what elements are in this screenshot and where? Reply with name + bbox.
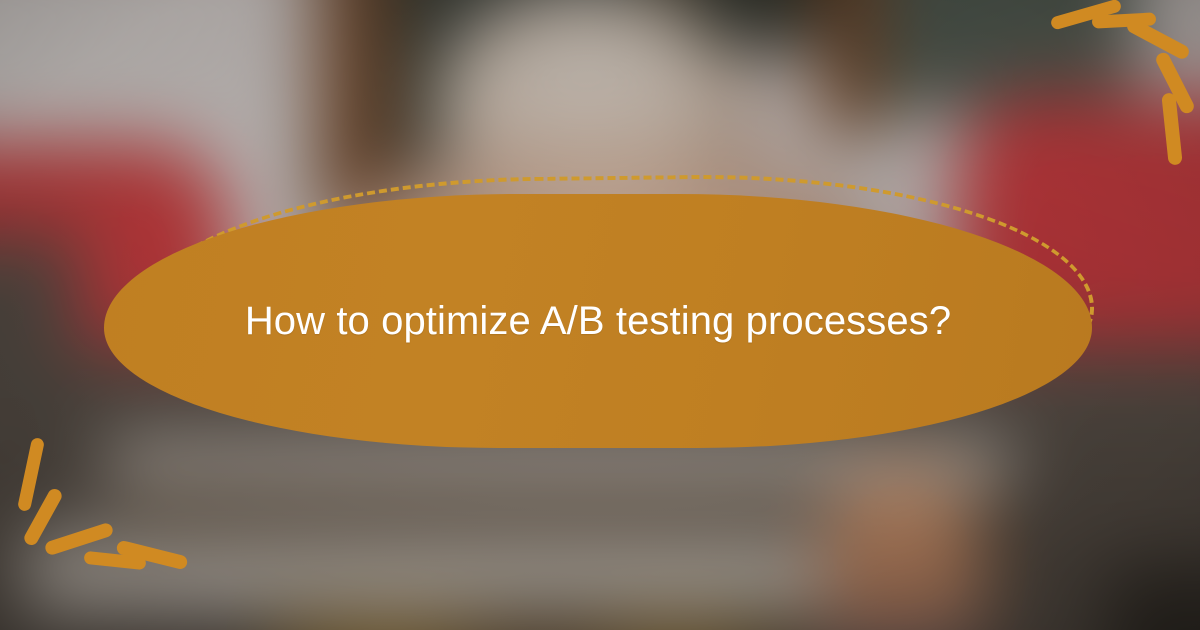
bg-boxes xyxy=(271,611,793,630)
starburst-top-right xyxy=(1030,0,1200,170)
question-card-image: How to optimize A/B testing processes? xyxy=(0,0,1200,630)
bg-dark-right xyxy=(1108,565,1200,630)
starburst-bottom-left xyxy=(0,460,180,630)
starburst-bottom-left-ray-3 xyxy=(44,522,115,557)
question-card: How to optimize A/B testing processes? xyxy=(104,176,1096,448)
card-title: How to optimize A/B testing processes? xyxy=(185,298,1011,344)
bg-window-frame-right xyxy=(820,0,882,136)
bg-person-right xyxy=(820,471,985,630)
card-body: How to optimize A/B testing processes? xyxy=(104,194,1092,448)
